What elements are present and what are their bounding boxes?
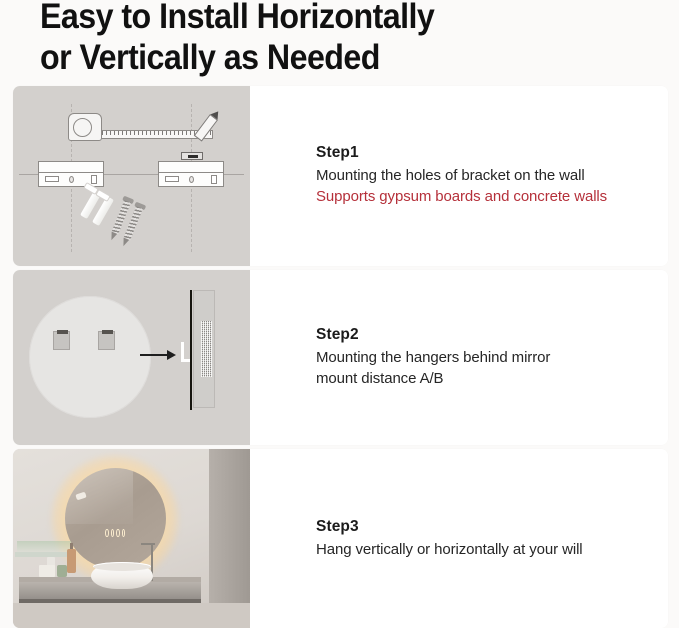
step-1-line-2: Supports gypsum boards and concrete wall… [316,187,668,208]
touch-sensor-dot-icon [116,529,120,537]
bubble-level-vial-icon [188,155,198,158]
step-card-3: Step3 Hang vertically or horizontally at… [13,449,668,628]
glass-shelf [15,552,73,557]
step-1-label: Step1 [316,144,668,162]
hanger-plate-b-icon [98,331,115,350]
screw-point-icon [121,238,130,248]
step-2-line-2: mount distance A/B [316,368,668,389]
step-card-3-body: Step3 Hang vertically or horizontally at… [250,449,668,628]
bracket-split-line-icon [39,172,103,173]
wall-rail-texture-icon [201,321,212,377]
screw-point-icon [109,232,118,242]
jar-icon [39,565,55,577]
bracket-center-hole-icon [69,176,74,183]
tape-measure-icon [68,113,102,141]
wall-rail-icon [193,290,215,408]
bracket-mounting-diagram [13,86,250,266]
page-title: Easy to Install Horizontally or Vertical… [40,0,592,79]
step-1-line-1: Mounting the holes of bracket on the wal… [316,165,668,186]
touch-sensor-dot-icon [105,529,109,537]
green-box-icon [57,565,67,577]
touch-sensor-dot-icon [111,529,115,537]
bracket-horizontal-slot-icon [165,176,179,182]
mirror-hanger-diagram [13,270,250,445]
basin-rim-icon [93,562,151,571]
wall-bracket-right-icon [158,161,224,187]
hanger-plate-a-icon [53,331,70,350]
bracket-horizontal-slot-icon [45,176,59,182]
step-1-text: Step1 Mounting the holes of bracket on t… [316,144,668,208]
touch-sensor-icon [105,529,125,537]
round-mirror-icon [29,296,151,418]
bubble-level-icon [181,152,203,160]
step-card-2: Step2 Mounting the hangers behind mirror… [13,270,668,445]
bathroom-floor [13,603,250,628]
step-card-1-body: Step1 Mounting the holes of bracket on t… [250,86,668,266]
bracket-vertical-slot-icon [91,175,97,184]
step-2-label: Step2 [316,326,668,344]
touch-sensor-dot-icon [122,529,126,537]
step-3-label: Step3 [316,517,668,535]
bracket-center-hole-icon [189,176,194,183]
hanger-plate-notch-icon [57,330,68,334]
step-card-2-body: Step2 Mounting the hangers behind mirror… [250,270,668,445]
soap-bottle-icon [67,549,76,573]
wall-bracket-left-icon [38,161,104,187]
step-card-1: Step1 Mounting the holes of bracket on t… [13,86,668,266]
tape-measure-reel-icon [73,118,92,137]
arrow-right-icon [140,354,168,356]
hanger-plate-notch-icon [102,330,113,334]
bracket-vertical-slot-icon [211,175,217,184]
bathroom-wall-right [209,449,250,628]
step-3-text: Step3 Hang vertically or horizontally at… [316,517,668,559]
step-3-line-1: Hang vertically or horizontally at your … [316,538,668,559]
step-2-line-1: Mounting the hangers behind mirror [316,347,668,368]
l-bracket-icon [181,342,190,362]
step-2-text: Step2 Mounting the hangers behind mirror… [316,326,668,390]
installed-mirror-photo [13,449,250,628]
wall-rail-edge-icon [190,290,192,410]
bracket-split-line-icon [159,172,223,173]
